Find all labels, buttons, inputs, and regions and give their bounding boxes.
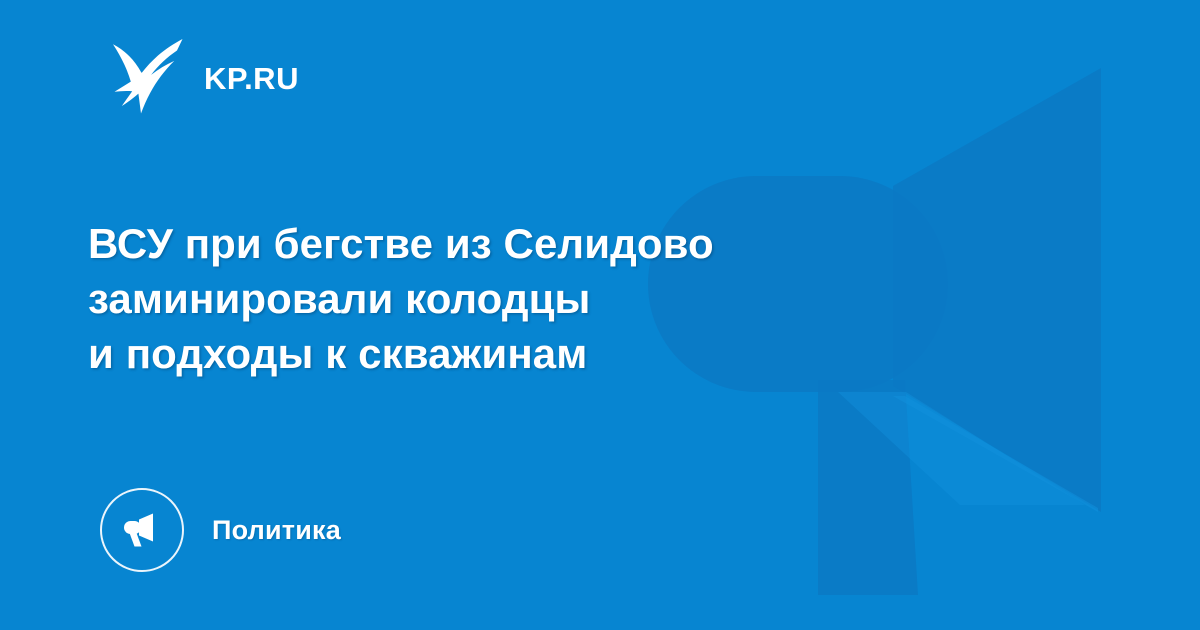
headline-line-2: заминировали колодцы	[88, 271, 1028, 326]
headline-line-3: и подходы к скважинам	[88, 326, 1028, 381]
category-label: Политика	[212, 517, 341, 544]
headline-line-1: ВСУ при бегстве из Селидово	[88, 216, 1028, 271]
headline: ВСУ при бегстве из Селидово заминировали…	[88, 216, 1028, 381]
category-badge[interactable]: Политика	[100, 488, 341, 572]
swallow-bird-logo-icon	[108, 36, 186, 116]
share-card: KP.RU ВСУ при бегстве из Селидово замини…	[0, 0, 1200, 630]
megaphone-icon	[100, 488, 184, 572]
brand-header: KP.RU	[108, 36, 299, 116]
brand-name: KP.RU	[204, 59, 299, 94]
